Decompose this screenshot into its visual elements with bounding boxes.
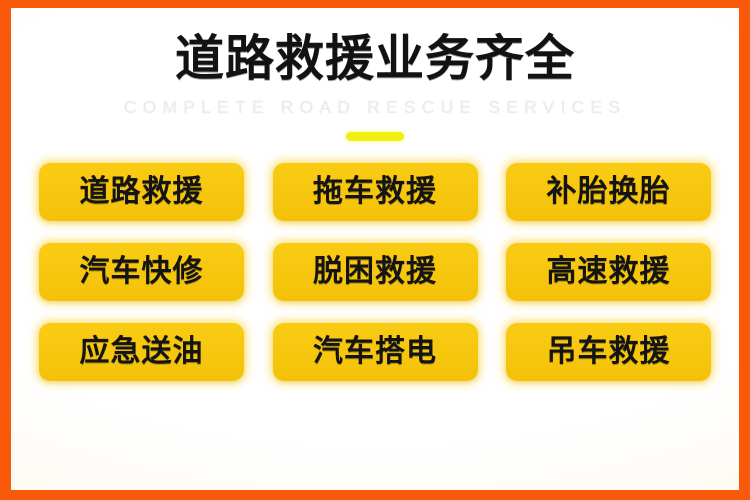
- service-chip-label: 道路救援: [80, 177, 204, 207]
- service-chip-label: 拖车救援: [313, 177, 437, 207]
- service-chip-label: 补胎换胎: [547, 177, 671, 207]
- poster-frame: 道路救援业务齐全 COMPLETE ROAD RESCUE SERVICES 道…: [0, 0, 750, 500]
- service-chip-tow-rescue[interactable]: 拖车救援: [273, 163, 478, 221]
- page-subtitle: COMPLETE ROAD RESCUE SERVICES: [11, 97, 739, 118]
- service-chip-jump-start[interactable]: 汽车搭电: [273, 323, 478, 381]
- service-chip-label: 高速救援: [547, 257, 671, 287]
- service-chip-tire-repair-replace[interactable]: 补胎换胎: [506, 163, 711, 221]
- service-chip-label: 应急送油: [80, 337, 204, 367]
- service-chip-label: 汽车搭电: [313, 337, 437, 367]
- accent-divider: [346, 132, 404, 141]
- service-chip-road-rescue[interactable]: 道路救援: [39, 163, 244, 221]
- page-title: 道路救援业务齐全: [11, 34, 739, 83]
- poster-canvas: 道路救援业务齐全 COMPLETE ROAD RESCUE SERVICES 道…: [11, 8, 739, 490]
- service-chip-highway-rescue[interactable]: 高速救援: [506, 243, 711, 301]
- service-grid: 道路救援 拖车救援 补胎换胎 汽车快修 脱困救援 高速救援 应急送油 汽车搭电: [39, 163, 711, 381]
- service-chip-label: 吊车救援: [547, 337, 671, 367]
- service-chip-label: 汽车快修: [80, 257, 204, 287]
- divider-container: [11, 132, 739, 141]
- service-chip-label: 脱困救援: [313, 257, 437, 287]
- service-chip-extrication-rescue[interactable]: 脱困救援: [273, 243, 478, 301]
- header: 道路救援业务齐全 COMPLETE ROAD RESCUE SERVICES: [11, 8, 739, 141]
- service-chip-emergency-fuel-delivery[interactable]: 应急送油: [39, 323, 244, 381]
- service-chip-crane-rescue[interactable]: 吊车救援: [506, 323, 711, 381]
- service-chip-quick-auto-repair[interactable]: 汽车快修: [39, 243, 244, 301]
